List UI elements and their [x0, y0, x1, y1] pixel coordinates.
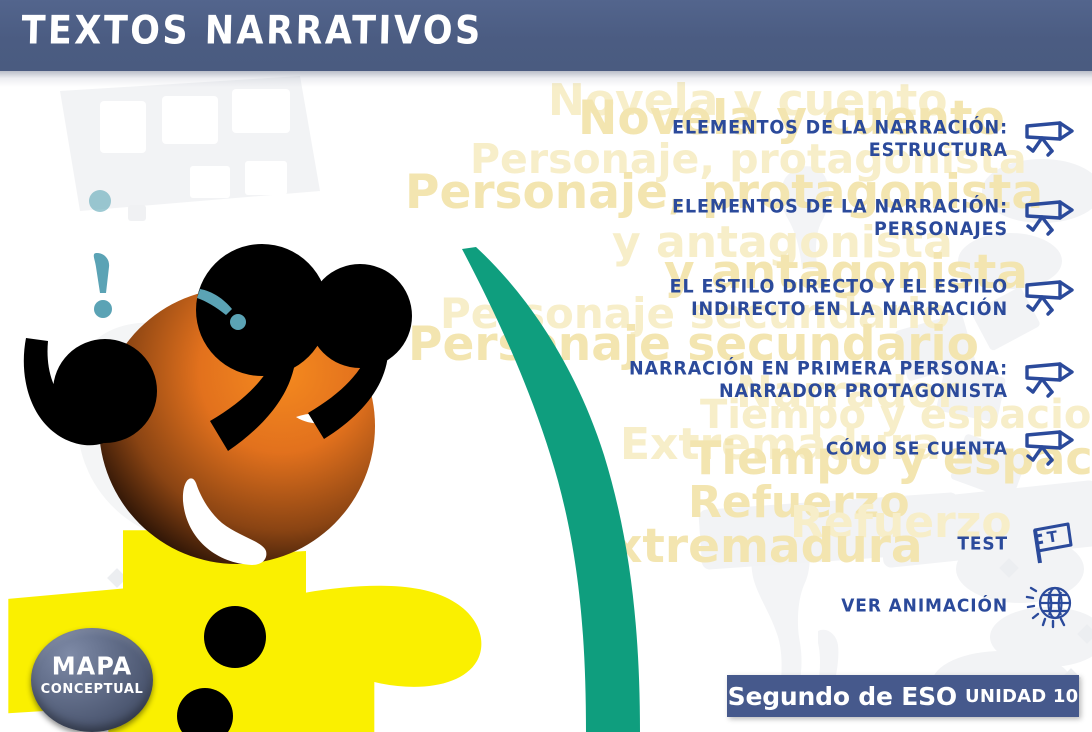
pencil-icon[interactable]: [1022, 358, 1078, 404]
menu-item-line2: PERSONAJES: [874, 219, 1008, 240]
button-bottom: [177, 688, 233, 732]
menu-item-line2: INDIRECTO EN LA NARRACIÓN: [691, 299, 1008, 320]
header-shadow: [0, 71, 1092, 87]
menu-item-2[interactable]: ELEMENTOS DE LA NARRACIÓN:PERSONAJES: [672, 196, 1078, 242]
menu-item-line1: VER ANIMACIÓN: [841, 595, 1008, 616]
globe-icon[interactable]: [1022, 583, 1078, 629]
menu-item-line2: NARRADOR PROTAGONISTA: [719, 381, 1008, 402]
menu-item-line1: EL ESTILO DIRECTO Y EL ESTILO: [670, 276, 1008, 297]
badge-line2: CONCEPTUAL: [31, 682, 153, 697]
menu-item-line1: CÓMO SE CUENTA: [826, 438, 1008, 459]
page-title: TEXTOS NARRATIVOS: [21, 9, 483, 54]
menu-item-7[interactable]: VER ANIMACIÓN: [841, 583, 1078, 629]
menu-item-label: NARRACIÓN EN PRIMERA PERSONA:NARRADOR PR…: [629, 358, 1008, 403]
pencil-icon[interactable]: [1022, 117, 1078, 163]
menu-item-line1: ELEMENTOS DE LA NARRACIÓN:: [672, 117, 1008, 138]
header-bar: TEXTOS NARRATIVOS: [0, 0, 1092, 71]
character-hair-quotes: [24, 244, 412, 451]
menu-item-4[interactable]: NARRACIÓN EN PRIMERA PERSONA:NARRADOR PR…: [629, 358, 1078, 404]
banner-unit: UNIDAD 10: [965, 686, 1078, 707]
character-spark-marks: [94, 253, 246, 330]
pencil-icon[interactable]: [1022, 426, 1078, 472]
menu-item-3[interactable]: EL ESTILO DIRECTO Y EL ESTILOINDIRECTO E…: [670, 276, 1078, 322]
menu-item-label: TEST: [957, 533, 1008, 555]
menu-item-5[interactable]: CÓMO SE CUENTA: [826, 426, 1078, 472]
pencil-icon[interactable]: [1022, 196, 1078, 242]
menu-item-line1: ELEMENTOS DE LA NARRACIÓN:: [672, 196, 1008, 217]
svg-text:T: T: [1046, 527, 1060, 546]
pencil-icon[interactable]: [1022, 276, 1078, 322]
character-head: [99, 288, 375, 564]
lesson-menu: ELEMENTOS DE LA NARRACIÓN:ESTRUCTURAELEM…: [480, 71, 1092, 631]
menu-item-line1: TEST: [957, 533, 1008, 554]
character-smile: [183, 478, 266, 565]
menu-item-line2: ESTRUCTURA: [869, 140, 1008, 161]
banner-course: Segundo de ESO: [728, 682, 957, 711]
menu-item-1[interactable]: ELEMENTOS DE LA NARRACIÓN:ESTRUCTURA: [672, 117, 1078, 163]
menu-item-label: ELEMENTOS DE LA NARRACIÓN:ESTRUCTURA: [672, 117, 1008, 162]
menu-item-label: EL ESTILO DIRECTO Y EL ESTILOINDIRECTO E…: [670, 276, 1008, 321]
menu-item-label: VER ANIMACIÓN: [841, 595, 1008, 617]
mapa-conceptual-button[interactable]: MAPA CONCEPTUAL: [31, 628, 153, 732]
menu-item-label: ELEMENTOS DE LA NARRACIÓN:PERSONAJES: [672, 196, 1008, 241]
course-banner: Segundo de ESO UNIDAD 10: [727, 675, 1079, 717]
button-top: [204, 606, 266, 668]
badge-line1: MAPA: [31, 651, 153, 680]
menu-item-6[interactable]: TESTT: [957, 521, 1078, 567]
slide-canvas: Novela y cuentoNovela y cuentoPersonaje,…: [0, 0, 1092, 732]
menu-item-label: CÓMO SE CUENTA: [826, 438, 1008, 460]
flag-icon[interactable]: T: [1022, 521, 1078, 567]
menu-item-line1: NARRACIÓN EN PRIMERA PERSONA:: [629, 358, 1008, 379]
